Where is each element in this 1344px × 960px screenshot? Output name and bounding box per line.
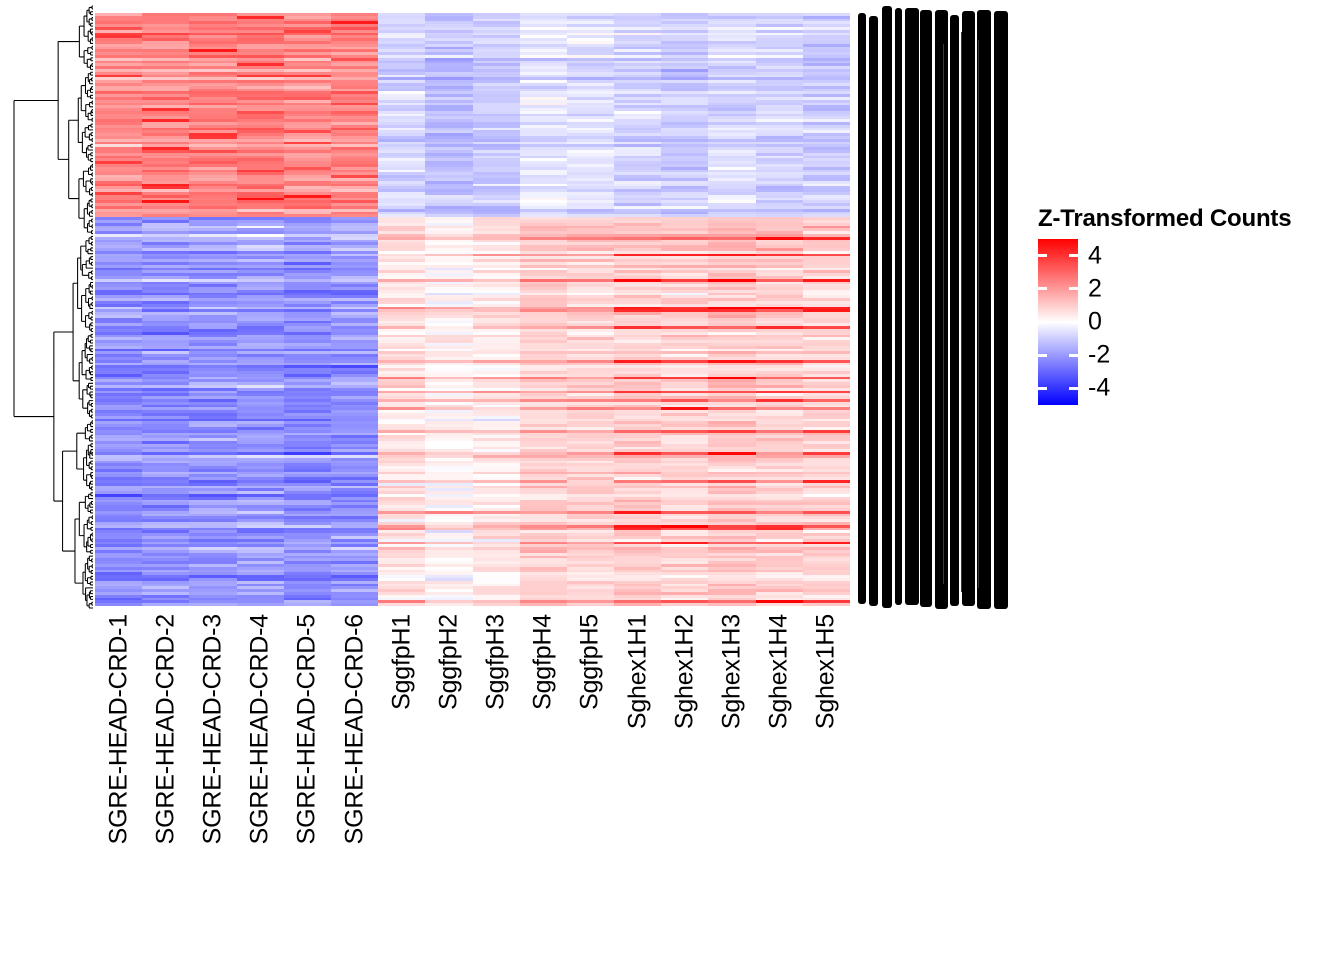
column-label-slot: SGRE-HEAD-CRD-2 xyxy=(142,610,189,930)
colorbar-tick-right xyxy=(1069,287,1078,290)
heatmap-column[interactable] xyxy=(378,13,425,605)
heatmap-column[interactable] xyxy=(708,13,755,605)
colorbar-ticks xyxy=(1038,239,1078,405)
column-label: SGRE-HEAD-CRD-5 xyxy=(293,614,322,844)
colorbar-tick-right xyxy=(1069,387,1078,390)
heatmap-column[interactable] xyxy=(331,13,378,605)
column-label: SggfpH1 xyxy=(387,614,416,710)
heatmap-column[interactable] xyxy=(520,13,567,605)
heatmap-column[interactable] xyxy=(284,13,331,605)
colorbar-tick-right xyxy=(1069,254,1078,257)
heatmap-column[interactable] xyxy=(425,13,472,605)
dendrogram-links xyxy=(14,6,93,608)
column-label-slot: Sghex1H4 xyxy=(756,610,803,930)
row-dendrogram xyxy=(12,4,94,610)
column-label: SggfpH4 xyxy=(529,614,558,710)
heatmap-column[interactable] xyxy=(567,13,614,605)
colorbar-tick-left xyxy=(1038,287,1047,290)
column-label-slot: SggfpH4 xyxy=(520,610,567,930)
column-label: Sghex1H2 xyxy=(670,614,699,729)
colorbar-tick-left xyxy=(1038,354,1047,357)
heatmap-cell[interactable] xyxy=(708,603,755,606)
heatmap-column[interactable] xyxy=(661,13,708,605)
heatmap-column[interactable] xyxy=(142,13,189,605)
colorbar-tick-right xyxy=(1069,354,1078,357)
heatmap-cell[interactable] xyxy=(284,603,331,606)
column-label-slot: SGRE-HEAD-CRD-5 xyxy=(284,610,331,930)
colorbar-legend: Z-Transformed Counts 420-2-4 xyxy=(1036,205,1336,411)
colorbar-tick-label: -2 xyxy=(1088,343,1110,368)
column-label: SggfpH5 xyxy=(576,614,605,710)
colorbar-title: Z-Transformed Counts xyxy=(1038,205,1336,233)
column-label-slot: SggfpH5 xyxy=(567,610,614,930)
column-label: SGRE-HEAD-CRD-2 xyxy=(151,614,180,844)
colorbar-tick-left xyxy=(1038,321,1047,324)
heatmap-cell[interactable] xyxy=(425,603,472,606)
colorbar-tick-left xyxy=(1038,254,1047,257)
column-label-axis: SGRE-HEAD-CRD-1SGRE-HEAD-CRD-2SGRE-HEAD-… xyxy=(95,610,850,930)
heatmap-cell[interactable] xyxy=(331,603,378,606)
column-label: SggfpH3 xyxy=(482,614,511,710)
heatmap-grid[interactable] xyxy=(95,13,850,605)
colorbar-tick-label: 4 xyxy=(1088,243,1102,268)
row-label-axis xyxy=(857,4,1009,612)
heatmap-cell[interactable] xyxy=(378,603,425,606)
column-label: Sghex1H1 xyxy=(623,614,652,729)
heatmap-cell[interactable] xyxy=(142,603,189,606)
heatmap-cell[interactable] xyxy=(614,603,661,606)
column-label: SGRE-HEAD-CRD-3 xyxy=(198,614,227,844)
column-label-slot: SGRE-HEAD-CRD-4 xyxy=(237,610,284,930)
column-label: SGRE-HEAD-CRD-6 xyxy=(340,614,369,844)
heatmap-column[interactable] xyxy=(95,13,142,605)
heatmap-column[interactable] xyxy=(614,13,661,605)
column-label-slot: Sghex1H1 xyxy=(614,610,661,930)
heatmap-cell[interactable] xyxy=(567,603,614,606)
heatmap-cell[interactable] xyxy=(661,603,708,606)
heatmap-cell[interactable] xyxy=(520,603,567,606)
column-label-slot: Sghex1H5 xyxy=(803,610,850,930)
column-label: Sghex1H4 xyxy=(765,614,794,729)
heatmap-column[interactable] xyxy=(189,13,236,605)
column-label: Sghex1H3 xyxy=(718,614,747,729)
column-label-slot: Sghex1H3 xyxy=(708,610,755,930)
colorbar-tick-label: 2 xyxy=(1088,276,1102,301)
heatmap-cell[interactable] xyxy=(803,603,850,606)
column-label-slot: SggfpH1 xyxy=(378,610,425,930)
heatmap-column[interactable] xyxy=(756,13,803,605)
column-label: SGRE-HEAD-CRD-1 xyxy=(104,614,133,844)
heatmap-column[interactable] xyxy=(803,13,850,605)
heatmap-column[interactable] xyxy=(237,13,284,605)
column-label-slot: SGRE-HEAD-CRD-3 xyxy=(189,610,236,930)
column-label: SggfpH2 xyxy=(434,614,463,710)
row-label-strips xyxy=(858,6,1008,609)
heatmap-cell[interactable] xyxy=(756,603,803,606)
heatmap-cell[interactable] xyxy=(237,603,284,606)
column-label-slot: Sghex1H2 xyxy=(661,610,708,930)
heatmap-column[interactable] xyxy=(473,13,520,605)
column-label: Sghex1H5 xyxy=(812,614,841,729)
column-label-slot: SggfpH2 xyxy=(425,610,472,930)
column-label-slot: SGRE-HEAD-CRD-6 xyxy=(331,610,378,930)
colorbar-tick-labels: 420-2-4 xyxy=(1088,239,1168,405)
heatmap-cell[interactable] xyxy=(189,603,236,606)
column-label-slot: SGRE-HEAD-CRD-1 xyxy=(95,610,142,930)
heatmap-cell[interactable] xyxy=(95,603,142,606)
clustered-heatmap-figure: SGRE-HEAD-CRD-1SGRE-HEAD-CRD-2SGRE-HEAD-… xyxy=(0,0,1344,960)
column-label-slot: SggfpH3 xyxy=(473,610,520,930)
colorbar-tick-label: -4 xyxy=(1088,376,1110,401)
colorbar-tick-right xyxy=(1069,321,1078,324)
colorbar-tick-left xyxy=(1038,387,1047,390)
column-label: SGRE-HEAD-CRD-4 xyxy=(246,614,275,844)
heatmap-cell[interactable] xyxy=(473,603,520,606)
colorbar-tick-label: 0 xyxy=(1088,310,1102,335)
